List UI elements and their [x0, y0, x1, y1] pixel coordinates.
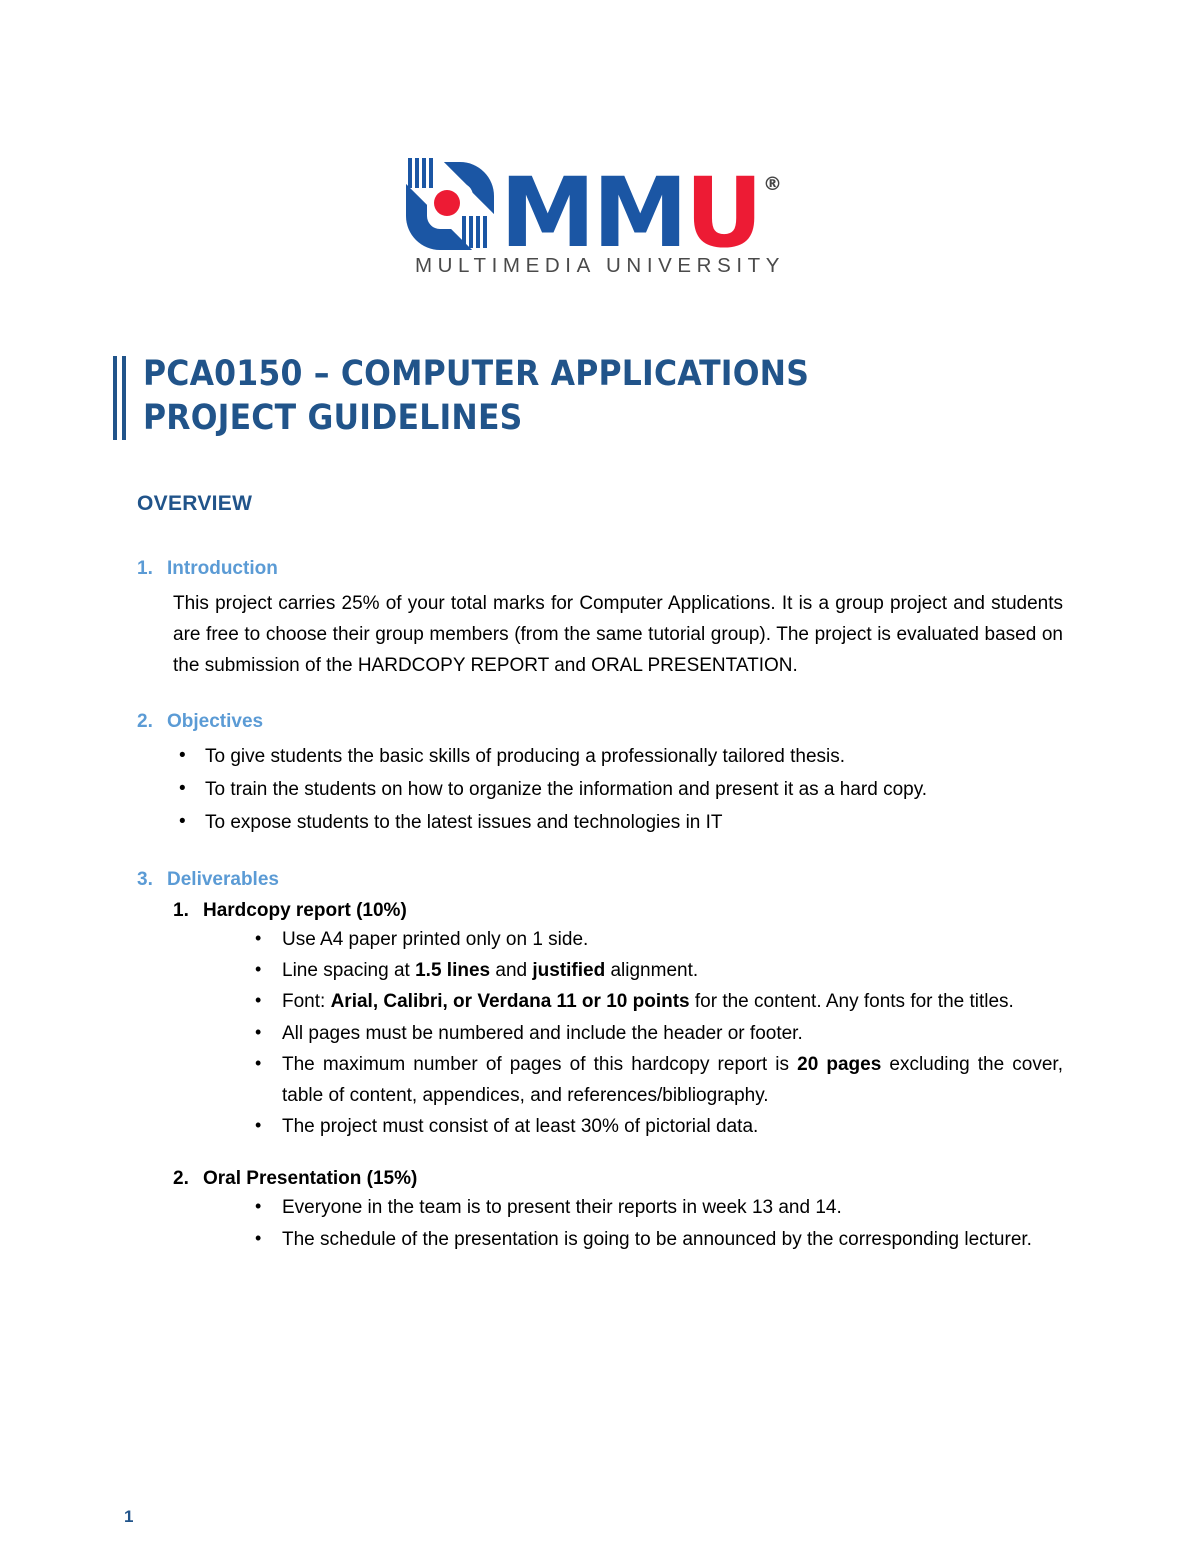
list-item: Use A4 paper printed only on 1 side.: [249, 925, 1063, 955]
subsection-oral-presentation: 2. Oral Presentation (15%) Everyone in t…: [173, 1168, 1063, 1255]
document-title-block: PCA0150 – COMPUTER APPLICATIONS PROJECT …: [112, 352, 1072, 440]
document-page: MM U ® MULTIMEDIA UNIVERSITY PCA0150 – C…: [0, 0, 1200, 1553]
section-number: 2.: [137, 711, 167, 733]
subsection-title: Oral Presentation (15%): [203, 1168, 417, 1190]
mmu-logo: MM U ® MULTIMEDIA UNIVERSITY: [400, 150, 800, 285]
subsection-number: 1.: [173, 900, 203, 922]
section-title: Introduction: [167, 558, 278, 580]
subsection-number: 2.: [173, 1168, 203, 1190]
list-item: Everyone in the team is to present their…: [249, 1193, 1063, 1223]
logo-row: MM U ®: [400, 150, 800, 250]
registered-trademark-icon: ®: [763, 177, 779, 193]
section-heading: 1. Introduction: [137, 558, 1063, 580]
list-item: To train the students on how to organize…: [173, 775, 1063, 806]
list-item: The maximum number of pages of this hard…: [249, 1050, 1063, 1111]
section-paragraph: This project carries 25% of your total m…: [173, 589, 1063, 681]
list-item: To expose students to the latest issues …: [173, 808, 1063, 839]
section-number: 1.: [137, 558, 167, 580]
red-dot-icon: [434, 190, 460, 216]
list-item: All pages must be numbered and include t…: [249, 1019, 1063, 1049]
list-item: To give students the basic skills of pro…: [173, 742, 1063, 773]
section-objectives: 2. Objectives To give students the basic…: [137, 711, 1063, 838]
title-accent-bars: [112, 356, 128, 440]
mmu-hook-mark-icon: [400, 154, 498, 250]
objectives-bullet-list: To give students the basic skills of pro…: [137, 742, 1063, 838]
hardcopy-report-bullets: Use A4 paper printed only on 1 side. Lin…: [173, 925, 1063, 1143]
subsection-title: Hardcopy report (10%): [203, 900, 407, 922]
section-heading: 2. Objectives: [137, 711, 1063, 733]
overview-heading: OVERVIEW: [137, 492, 1063, 516]
logo-letters-u: U: [685, 173, 760, 254]
list-item: Line spacing at 1.5 lines and justified …: [249, 956, 1063, 986]
page-number: 1: [124, 1507, 133, 1527]
list-item: The project must consist of at least 30%…: [249, 1112, 1063, 1142]
section-deliverables: 3. Deliverables 1. Hardcopy report (10%)…: [137, 869, 1063, 1256]
section-introduction: 1. Introduction This project carries 25%…: [137, 558, 1063, 681]
subsection-hardcopy-report: 1. Hardcopy report (10%) Use A4 paper pr…: [173, 900, 1063, 1143]
section-heading: 3. Deliverables: [137, 869, 1063, 891]
list-item: The schedule of the presentation is goin…: [249, 1225, 1063, 1255]
section-title: Objectives: [167, 711, 263, 733]
list-item: Font: Arial, Calibri, or Verdana 11 or 1…: [249, 987, 1063, 1017]
document-body: OVERVIEW 1. Introduction This project ca…: [137, 492, 1063, 1256]
logo-letters-mm: MM: [500, 173, 685, 254]
section-number: 3.: [137, 869, 167, 891]
subsection-heading: 2. Oral Presentation (15%): [173, 1168, 1063, 1190]
logo-lettermark: MM U ®: [500, 173, 779, 254]
oral-presentation-bullets: Everyone in the team is to present their…: [173, 1193, 1063, 1255]
page-title: PCA0150 – COMPUTER APPLICATIONS PROJECT …: [143, 352, 1072, 440]
section-title: Deliverables: [167, 869, 279, 891]
deliverables-subsection-list: 1. Hardcopy report (10%) Use A4 paper pr…: [137, 900, 1063, 1256]
subsection-heading: 1. Hardcopy report (10%): [173, 900, 1063, 922]
